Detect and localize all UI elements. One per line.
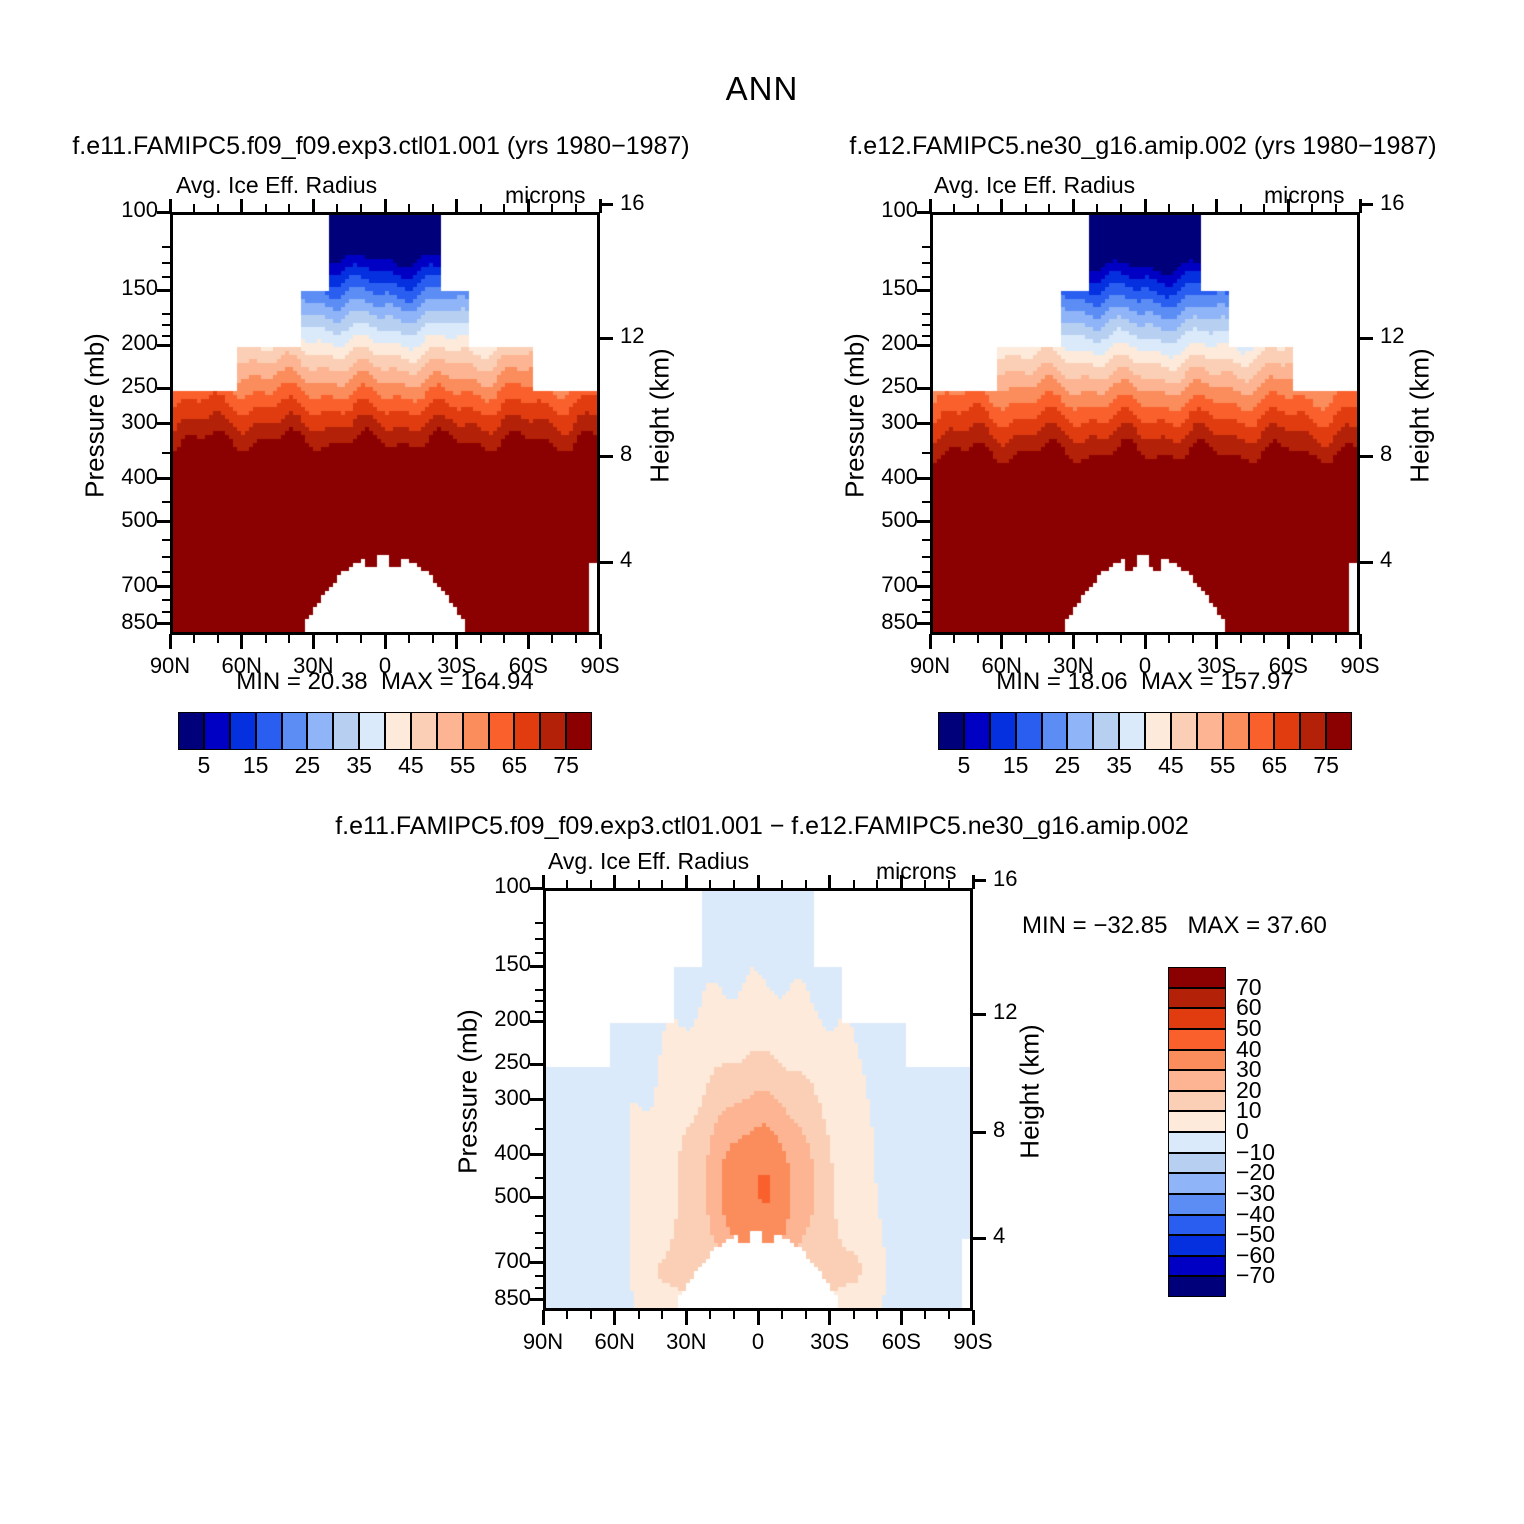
panel-right-xminor-top--10 [1168, 204, 1170, 213]
colorbar-diff-swatch-8 [1168, 1132, 1226, 1153]
panel-right-yminor-130 [922, 262, 931, 264]
colorbar-right-swatch-10 [1197, 712, 1223, 750]
panel-left-ytick-label-100: 100 [86, 197, 158, 223]
panel-right-contour-field [933, 215, 1357, 632]
panel-left-xminor-70 [217, 634, 219, 643]
colorbar-diff-swatch-14 [1168, 1256, 1226, 1277]
panel-right-xminor-top-40 [1048, 204, 1050, 213]
colorbar-diff-swatch-7 [1168, 1111, 1226, 1132]
panel-diff-xtick-30S [828, 1310, 831, 1325]
colorbar-diff-swatch-4 [1168, 1050, 1226, 1071]
panel-diff-yminor-800 [535, 1287, 544, 1289]
panel-right-ytick-label-500: 500 [846, 507, 918, 533]
colorbar-left-labels: 515253545556575 [178, 752, 592, 782]
panel-right-xminor-10 [1120, 634, 1122, 643]
colorbar-diff-label-neg70: −70 [1236, 1262, 1302, 1289]
panel-left-xminor-top--40 [480, 204, 482, 213]
colorbar-diff-swatch-15 [1168, 1276, 1226, 1297]
colorbar-left [178, 712, 592, 750]
panel-right-xminor-top-50 [1025, 204, 1027, 213]
panel-left-yminor-750 [162, 599, 171, 601]
panel-diff-ytick-500 [530, 1196, 544, 1199]
panel-left-ytick-300 [157, 422, 171, 425]
panel-diff-xtick-top-60N [613, 875, 616, 889]
panel-diff-y2tick-label-4: 4 [993, 1223, 1033, 1249]
panel-diff-xminor-top--50 [876, 880, 878, 889]
panel-diff-y2tick-8 [972, 1131, 986, 1134]
panel-left-xminor-top--80 [575, 204, 577, 213]
panel-diff-xminor--80 [948, 1310, 950, 1319]
panel-left-ytick-label-250: 250 [86, 373, 158, 399]
panel-diff-yminor-180 [535, 1000, 544, 1002]
panel-diff-xtick-0 [757, 1310, 760, 1325]
colorbar-diff [1168, 967, 1226, 1297]
panel-right-xminor-top-10 [1120, 204, 1122, 213]
panel-right-xminor-top-20 [1096, 204, 1098, 213]
panel-left-xtick-top-90S [599, 199, 602, 213]
colorbar-left-swatch-6 [333, 712, 359, 750]
panel-left-yminor-350 [162, 452, 171, 454]
panel-right-ytick-label-200: 200 [846, 330, 918, 356]
panel-right-yminor-120 [922, 246, 931, 248]
panel-right-xminor--20 [1192, 634, 1194, 643]
panel-diff-contour-field [546, 891, 970, 1308]
panel-diff-ytick-200 [530, 1020, 544, 1023]
panel-diff-xminor-top-10 [733, 880, 735, 889]
panel-left-title: f.e11.FAMIPC5.f09_f09.exp3.ctl01.001 (yr… [0, 132, 762, 161]
panel-left-xminor-top-70 [217, 204, 219, 213]
colorbar-right-swatch-12 [1249, 712, 1275, 750]
colorbar-left-swatch-0 [178, 712, 204, 750]
panel-diff-xtick-90N [542, 1310, 545, 1325]
colorbar-left-swatch-9 [411, 712, 437, 750]
panel-diff-xminor-top-20 [709, 880, 711, 889]
panel-right-ytick-400 [917, 477, 931, 480]
panel-left-yminor-120 [162, 246, 171, 248]
colorbar-diff-swatch-6 [1168, 1091, 1226, 1112]
panel-diff-xminor--20 [805, 1310, 807, 1319]
panel-right-ytick-label-300: 300 [846, 409, 918, 435]
panel-left-ytick-label-200: 200 [86, 330, 158, 356]
panel-diff-xtick-top-30N [685, 875, 688, 889]
panel-left-yminor-140 [162, 276, 171, 278]
panel-left-ytick-200 [157, 344, 171, 347]
panel-left-xminor-50 [265, 634, 267, 643]
colorbar-left-swatch-10 [437, 712, 463, 750]
panel-right-yminor-650 [922, 571, 931, 573]
panel-right-yminor-600 [922, 556, 931, 558]
panel-diff-ytick-label-400: 400 [459, 1140, 531, 1166]
panel-right-y2tick-label-12: 12 [1380, 323, 1420, 349]
panel-diff-ytick-150 [530, 965, 544, 968]
panel-right-ytick-250 [917, 387, 931, 390]
panel-right-y2tick-label-16: 16 [1380, 190, 1420, 216]
panel-left-xtick-60S [527, 634, 530, 649]
panel-left-y2tick-label-8: 8 [620, 441, 660, 467]
panel-left-xminor--20 [432, 634, 434, 643]
colorbar-left-swatch-2 [230, 712, 256, 750]
panel-diff-xminor-70 [590, 1310, 592, 1319]
colorbar-right-swatch-4 [1042, 712, 1068, 750]
panel-left-plot-area [170, 212, 600, 635]
panel-diff-xtick-label-90S: 90S [928, 1329, 1018, 1355]
panel-diff-xtick-30N [685, 1310, 688, 1325]
panel-left-xminor-top--10 [408, 204, 410, 213]
panel-left-y2tick-8 [599, 455, 613, 458]
panel-diff-xtick-top-90S [972, 875, 975, 889]
panel-left-y2tick-4 [599, 561, 613, 564]
panel-right-yminor-750 [922, 599, 931, 601]
panel-left-ytick-700 [157, 585, 171, 588]
panel-left-y2tick-label-16: 16 [620, 190, 660, 216]
panel-diff-max: MAX = 37.60 [1187, 912, 1326, 939]
panel-diff-xminor--40 [853, 1310, 855, 1319]
panel-diff-xtick-90S [972, 1310, 975, 1325]
panel-left-yminor-550 [162, 539, 171, 541]
colorbar-diff-labels: 706050403020100−10−20−30−40−50−60−70 [1236, 967, 1306, 1297]
panel-right-xminor-top--20 [1192, 204, 1194, 213]
panel-left-xtick-top-60N [240, 199, 243, 213]
panel-left-xtick-30S [455, 634, 458, 649]
panel-right-ytick-850 [917, 622, 931, 625]
panel-left-xtick-60N [240, 634, 243, 649]
panel-right-yminor-550 [922, 539, 931, 541]
panel-left-xminor--70 [551, 634, 553, 643]
panel-diff-xminor--70 [924, 1310, 926, 1319]
panel-diff-yminor-130 [535, 938, 544, 940]
panel-left-xtick-label-90S: 90S [555, 653, 645, 679]
panel-left: f.e11.FAMIPC5.f09_f09.exp3.ctl01.001 (yr… [0, 132, 762, 161]
panel-left-xminor-80 [193, 634, 195, 643]
panel-left-xminor--80 [575, 634, 577, 643]
colorbar-diff-swatch-1 [1168, 988, 1226, 1009]
panel-diff-xminor-top--80 [948, 880, 950, 889]
panel-right-xtick-top-30S [1215, 199, 1218, 213]
panel-diff-yminor-120 [535, 922, 544, 924]
panel-diff-xminor-top-70 [590, 880, 592, 889]
panel-diff-xminor--10 [781, 1310, 783, 1319]
panel-diff-xminor-top--70 [924, 880, 926, 889]
panel-diff-ytick-label-850: 850 [459, 1285, 531, 1311]
panel-right-xminor-50 [1025, 634, 1027, 643]
colorbar-left-swatch-4 [282, 712, 308, 750]
panel-right-xminor-top--40 [1240, 204, 1242, 213]
panel-diff-xminor-40 [661, 1310, 663, 1319]
panel-left-xtick-0 [384, 634, 387, 649]
panel-left-contour-field [173, 215, 597, 632]
panel-left-xminor--40 [480, 634, 482, 643]
colorbar-diff-swatch-0 [1168, 967, 1226, 988]
panel-left-xminor-40 [288, 634, 290, 643]
panel-right-xminor--80 [1335, 634, 1337, 643]
panel-left-yminor-800 [162, 611, 171, 613]
panel-right-yminor-800 [922, 611, 931, 613]
panel-diff-xtick-top-90N [542, 875, 545, 889]
panel-left-xtick-top-30N [312, 199, 315, 213]
panel-diff-ytick-label-300: 300 [459, 1085, 531, 1111]
panel-left-xminor-10 [360, 634, 362, 643]
panel-left-yminor-600 [162, 556, 171, 558]
panel-right-xtick-60N [1000, 634, 1003, 649]
panel-diff-xtick-60N [613, 1310, 616, 1325]
colorbar-left-swatch-12 [489, 712, 515, 750]
colorbar-left-swatch-3 [256, 712, 282, 750]
colorbar-right-labels: 515253545556575 [938, 752, 1352, 782]
colorbar-right-swatch-15 [1326, 712, 1352, 750]
panel-left-xminor--50 [503, 634, 505, 643]
colorbar-diff-swatch-2 [1168, 1008, 1226, 1029]
panel-right-ytick-label-100: 100 [846, 197, 918, 223]
panel-left-xminor-top-50 [265, 204, 267, 213]
panel-diff-ytick-400 [530, 1153, 544, 1156]
panel-right-ytick-label-700: 700 [846, 572, 918, 598]
panel-right-yminor-190 [922, 335, 931, 337]
panel-left-yminor-450 [162, 501, 171, 503]
panel-right-xtick-top-90S [1359, 199, 1362, 213]
colorbar-left-swatch-14 [540, 712, 566, 750]
panel-right-xminor--10 [1168, 634, 1170, 643]
panel-right-y2tick-label-4: 4 [1380, 547, 1420, 573]
panel-diff-title: f.e11.FAMIPC5.f09_f09.exp3.ctl01.001 − f… [182, 812, 1342, 841]
colorbar-right-swatch-11 [1223, 712, 1249, 750]
panel-left-xminor-top-80 [193, 204, 195, 213]
colorbar-left-label-75: 75 [536, 752, 596, 779]
colorbar-left-swatch-1 [204, 712, 230, 750]
panel-left-xtick-30N [312, 634, 315, 649]
panel-left-ytick-label-850: 850 [86, 609, 158, 635]
panel-right-yminor-170 [922, 313, 931, 315]
panel-right-xtick-top-60N [1000, 199, 1003, 213]
colorbar-diff-swatch-13 [1168, 1235, 1226, 1256]
page-title: ANN [0, 70, 1524, 108]
panel-right-ytick-300 [917, 422, 931, 425]
colorbar-diff-swatch-5 [1168, 1070, 1226, 1091]
panel-diff-ytick-label-250: 250 [459, 1049, 531, 1075]
panel-right-xminor-80 [953, 634, 955, 643]
panel-right-xtick-top-90N [929, 199, 932, 213]
panel-diff-min: MIN = −32.85 [1022, 912, 1167, 939]
panel-left-ytick-label-400: 400 [86, 464, 158, 490]
panel-left-ytick-400 [157, 477, 171, 480]
panel-left-xminor-top-40 [288, 204, 290, 213]
panel-left-xtick-top-30S [455, 199, 458, 213]
panel-right-plot-area [930, 212, 1360, 635]
panel-diff-xminor-top-50 [638, 880, 640, 889]
colorbar-diff-swatch-11 [1168, 1194, 1226, 1215]
panel-diff-y2tick-label-16: 16 [993, 866, 1033, 892]
panel-right-xtick-90S [1359, 634, 1362, 649]
panel-right: f.e12.FAMIPC5.ne30_g16.amip.002 (yrs 198… [762, 132, 1524, 161]
panel-left-units: microns [505, 182, 586, 209]
panel-left-ytick-label-500: 500 [86, 507, 158, 533]
panel-diff-yminor-550 [535, 1215, 544, 1217]
colorbar-left-swatch-15 [566, 712, 592, 750]
panel-right-xtick-0 [1144, 634, 1147, 649]
panel-right-xtick-label-90S: 90S [1315, 653, 1405, 679]
colorbar-diff-swatch-3 [1168, 1029, 1226, 1050]
panel-right-y2tick-4 [1359, 561, 1373, 564]
panel-right-ytick-label-850: 850 [846, 609, 918, 635]
panel-right-xtick-30S [1215, 634, 1218, 649]
panel-diff-xminor-top--10 [781, 880, 783, 889]
panel-diff-xtick-60S [900, 1310, 903, 1325]
panel-left-xminor-top-20 [336, 204, 338, 213]
panel-right-ytick-500 [917, 520, 931, 523]
panel-right-ytick-label-400: 400 [846, 464, 918, 490]
panel-diff-y2tick-12 [972, 1013, 986, 1016]
panel-left-yminor-130 [162, 262, 171, 264]
panel-right-units: microns [1264, 182, 1345, 209]
panel-diff-ytick-300 [530, 1098, 544, 1101]
panel-left-xminor--10 [408, 634, 410, 643]
panel-diff-yminor-170 [535, 989, 544, 991]
panel-diff-xtick-top-60S [900, 875, 903, 889]
panel-left-y2tick-12 [599, 337, 613, 340]
panel-diff-ytick-250 [530, 1063, 544, 1066]
panel-left-xminor-20 [336, 634, 338, 643]
panel-diff-xminor-50 [638, 1310, 640, 1319]
panel-diff-units: microns [876, 858, 957, 885]
panel-diff-y2tick-label-8: 8 [993, 1117, 1033, 1143]
colorbar-right-swatch-14 [1300, 712, 1326, 750]
panel-diff-ytick-label-500: 500 [459, 1183, 531, 1209]
panel-diff-yminor-140 [535, 952, 544, 954]
panel-right-xminor--70 [1311, 634, 1313, 643]
panel-right-xminor-top-80 [953, 204, 955, 213]
panel-diff-xminor-20 [709, 1310, 711, 1319]
panel-diff-yminor-600 [535, 1232, 544, 1234]
panel-diff-xminor-top-40 [661, 880, 663, 889]
panel-right-xtick-90N [929, 634, 932, 649]
panel-right-y2tick-12 [1359, 337, 1373, 340]
panel-right-xminor-top--70 [1311, 204, 1313, 213]
colorbar-diff-swatch-10 [1168, 1173, 1226, 1194]
panel-right-xtick-top-0 [1144, 199, 1147, 213]
panel-diff-ytick-label-200: 200 [459, 1006, 531, 1032]
panel-diff-ytick-label-700: 700 [459, 1248, 531, 1274]
panel-right-xminor-70 [977, 634, 979, 643]
panel-left-xtick-90N [169, 634, 172, 649]
colorbar-diff-swatch-9 [1168, 1153, 1226, 1174]
panel-right-xtick-60S [1287, 634, 1290, 649]
colorbar-right-swatch-13 [1274, 712, 1300, 750]
panel-right-y2tick-label-8: 8 [1380, 441, 1420, 467]
panel-left-xtick-90S [599, 634, 602, 649]
panel-right-xminor-top-70 [977, 204, 979, 213]
panel-diff-xminor-80 [566, 1310, 568, 1319]
panel-right-ytick-200 [917, 344, 931, 347]
panel-diff-ytick-700 [530, 1261, 544, 1264]
panel-diff-xminor-top--20 [805, 880, 807, 889]
colorbar-left-swatch-13 [514, 712, 540, 750]
panel-right-xminor-40 [1048, 634, 1050, 643]
panel-left-xminor-top--70 [551, 204, 553, 213]
panel-right-ytick-700 [917, 585, 931, 588]
panel-right-field-label: Avg. Ice Eff. Radius [934, 172, 1135, 199]
panel-diff-xminor--50 [876, 1310, 878, 1319]
panel-left-yminor-650 [162, 571, 171, 573]
panel-left-xtick-top-0 [384, 199, 387, 213]
colorbar-right-label-75: 75 [1296, 752, 1356, 779]
panel-left-field-label: Avg. Ice Eff. Radius [176, 172, 377, 199]
panel-left-yminor-190 [162, 335, 171, 337]
colorbar-right-swatch-5 [1067, 712, 1093, 750]
panel-diff-xtick-top-30S [828, 875, 831, 889]
panel-right-yminor-140 [922, 276, 931, 278]
colorbar-right-swatch-2 [990, 712, 1016, 750]
panel-diff-yminor-750 [535, 1275, 544, 1277]
panel-left-yminor-180 [162, 324, 171, 326]
panel-left-xtick-top-90N [169, 199, 172, 213]
colorbar-left-swatch-11 [463, 712, 489, 750]
panel-right-xtick-top-60S [1287, 199, 1290, 213]
panel-right-xtick-top-30N [1072, 199, 1075, 213]
panel-left-ytick-500 [157, 520, 171, 523]
panel-right-title: f.e12.FAMIPC5.ne30_g16.amip.002 (yrs 198… [762, 132, 1524, 161]
panel-right-ytick-label-250: 250 [846, 373, 918, 399]
panel-left-ytick-850 [157, 622, 171, 625]
panel-right-y2tick-8 [1359, 455, 1373, 458]
panel-right-xminor-top--80 [1335, 204, 1337, 213]
colorbar-right-swatch-7 [1119, 712, 1145, 750]
colorbar-left-swatch-8 [385, 712, 411, 750]
panel-right-ytick-label-150: 150 [846, 275, 918, 301]
colorbar-left-swatch-7 [359, 712, 385, 750]
colorbar-right-swatch-6 [1093, 712, 1119, 750]
colorbar-left-swatch-5 [307, 712, 333, 750]
colorbar-diff-swatch-12 [1168, 1215, 1226, 1236]
panel-left-xminor-top-10 [360, 204, 362, 213]
panel-right-yminor-180 [922, 324, 931, 326]
panel-right-ytick-150 [917, 289, 931, 292]
panel-left-xminor-top--20 [432, 204, 434, 213]
panel-right-xminor--40 [1240, 634, 1242, 643]
colorbar-right-swatch-3 [1016, 712, 1042, 750]
panel-diff-minmax: MIN = −32.85 MAX = 37.60 [1022, 912, 1327, 940]
panel-diff-xtick-top-0 [757, 875, 760, 889]
panel-diff-yminor-190 [535, 1011, 544, 1013]
panel-diff-y2tick-label-12: 12 [993, 999, 1033, 1025]
panel-diff-xminor-10 [733, 1310, 735, 1319]
panel-left-y2tick-label-4: 4 [620, 547, 660, 573]
panel-left-ytick-150 [157, 289, 171, 292]
colorbar-right [938, 712, 1352, 750]
panel-diff-yminor-650 [535, 1247, 544, 1249]
panel-right-xtick-30N [1072, 634, 1075, 649]
panel-left-ytick-label-300: 300 [86, 409, 158, 435]
panel-right-yminor-350 [922, 452, 931, 454]
panel-left-y2tick-label-12: 12 [620, 323, 660, 349]
panel-diff-xminor-top-80 [566, 880, 568, 889]
panel-diff-ytick-label-100: 100 [459, 873, 531, 899]
panel-left-xtick-top-60S [527, 199, 530, 213]
panel-left-ytick-label-150: 150 [86, 275, 158, 301]
panel-diff-yminor-350 [535, 1128, 544, 1130]
panel-left-ytick-250 [157, 387, 171, 390]
panel-left-xminor-top--50 [503, 204, 505, 213]
panel-diff-yminor-450 [535, 1177, 544, 1179]
colorbar-right-swatch-1 [964, 712, 990, 750]
panel-right-xminor-top--50 [1263, 204, 1265, 213]
panel-diff-ytick-label-150: 150 [459, 951, 531, 977]
panel-left-yminor-170 [162, 313, 171, 315]
panel-left-ytick-label-700: 700 [86, 572, 158, 598]
panel-diff-field-label: Avg. Ice Eff. Radius [548, 848, 749, 875]
colorbar-right-swatch-0 [938, 712, 964, 750]
panel-right-xminor--50 [1263, 634, 1265, 643]
panel-right-xminor-20 [1096, 634, 1098, 643]
panel-diff-ytick-850 [530, 1298, 544, 1301]
